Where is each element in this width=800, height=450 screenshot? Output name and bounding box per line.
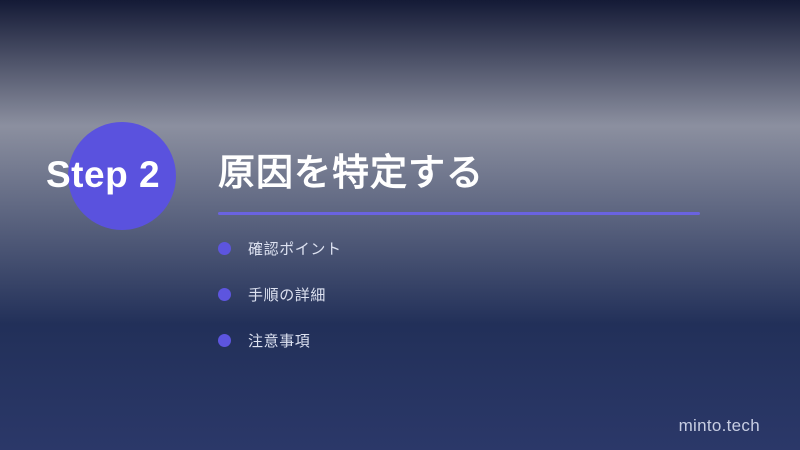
bullet-dot-icon xyxy=(218,334,231,347)
step-badge-label: Step 2 xyxy=(46,153,160,197)
list-item: 確認ポイント xyxy=(218,236,698,260)
bullet-dot-icon xyxy=(218,288,231,301)
list-item: 注意事項 xyxy=(218,328,698,352)
list-item-label: 確認ポイント xyxy=(248,238,342,259)
list-item-label: 注意事項 xyxy=(248,330,310,351)
slide-title: 原因を特定する xyxy=(218,150,484,196)
footer-brand: minto.tech xyxy=(679,416,760,436)
bullet-list: 確認ポイント 手順の詳細 注意事項 xyxy=(218,236,698,374)
bullet-dot-icon xyxy=(218,242,231,255)
slide-canvas: Step 2 原因を特定する 確認ポイント 手順の詳細 注意事項 minto.t… xyxy=(0,0,800,450)
title-divider xyxy=(218,212,700,215)
list-item-label: 手順の詳細 xyxy=(248,284,326,305)
list-item: 手順の詳細 xyxy=(218,282,698,306)
